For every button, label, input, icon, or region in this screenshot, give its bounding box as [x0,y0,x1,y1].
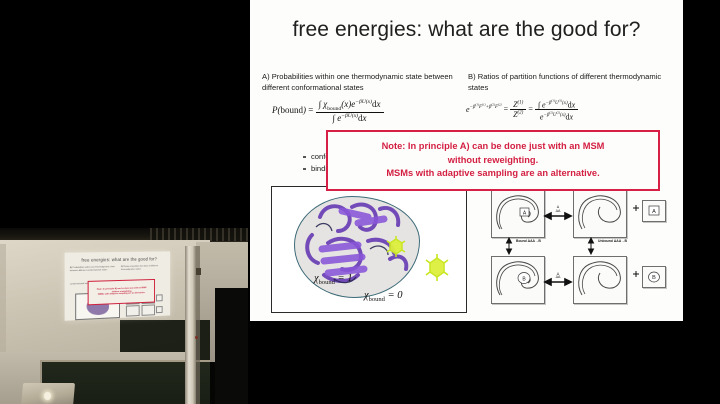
equation-b: e−β(1)F(1)+β(2)F(2) = Z(1) Z(2) = ∫ e−β(… [466,98,578,122]
receptor-shape [574,191,626,237]
projected-slide: free energies: what are the good for? A)… [65,251,171,320]
section-a-heading: A) Probabilities within one thermodynami… [262,72,458,94]
cycle-box-bound-b: B [491,256,545,304]
cycle-label-unbound: Unbound ΔAA→B [598,239,627,243]
cycle-box-bound-a: A [491,190,545,238]
equation-a-denominator: ∫ e−βU(x)dx [316,113,384,123]
equation-a: P(bound) = ∫ χbound(x)e−βU(x)dx ∫ e−βU(x… [272,99,384,123]
callout-line-2: without reweighting. [448,154,538,167]
projected-section-b: B) Ratios of partition functions of diff… [121,265,164,271]
free-ligand-icon [426,254,448,281]
screen-root: free energies: what are the good for? A)… [0,0,720,404]
svg-text:Δ: Δ [557,205,560,209]
svg-text:A: A [652,209,656,215]
red-indicator-light [195,336,198,339]
projected-section-a: A) Probabilities within one thermodynami… [70,266,115,272]
receptor-shape: B [492,257,544,303]
ligand-a-icon: A [643,201,665,221]
equation-a-numerator: ∫ χbound(x)e−βU(x)dx [316,99,384,113]
svg-text:Δ: Δ [557,272,560,276]
receptor-shape: A [492,191,544,237]
equals-sign: = [308,105,315,115]
equation-a-fraction: ∫ χbound(x)e−βU(x)dx ∫ e−βU(x)dx [316,99,384,123]
protein-binding-figure: χbound = 1 χbound = 0 [271,186,467,313]
projected-callout-line-3: MSMs with adaptive sampling are an alter… [98,292,145,297]
projected-cycle-box [156,294,163,301]
thermodynamic-cycle-figure: A A [487,186,673,310]
cycle-small-box-a: A [642,200,666,222]
dark-corner [215,288,248,404]
wall-socket [196,268,201,275]
projected-cycle-box [142,304,155,315]
slide-title: free energies: what are the good for? [250,18,683,42]
equation-b-numerator: ∫ e−β(1)U(1)(x)dx [535,98,578,110]
equation-a-lhs: P(bound) [272,105,306,115]
pillar [185,246,196,404]
apple-logo-icon [44,392,51,400]
projected-callout: Note: In principle A) can be done just w… [88,279,155,305]
svg-text:ΔA: ΔA [556,275,561,279]
svg-text:ΔA: ΔA [556,209,561,213]
equation-b-lhs: e−β(1)F(1)+β(2)F(2) [466,105,502,114]
projected-slide-title: free energies: what are the good for? [73,256,164,263]
cycle-small-box-b: B [642,266,666,288]
section-b-heading: B) Ratios of partition functions of diff… [468,72,674,94]
equation-b-partition-ratio: Z(1) Z(2) [510,100,526,119]
cycle-box-unbound-a [573,190,627,238]
callout-line-1: Note: In principle A) can be done just w… [382,140,605,153]
equation-b-fraction: ∫ e−β(1)U(1)(x)dx e−β(2)U(2)(x)dx [535,98,578,122]
presentation-slide: free energies: what are the good for? A)… [250,0,683,321]
callout-line-3: MSMs with adaptive sampling are an alter… [386,167,599,180]
cycle-box-unbound-b [573,256,627,304]
chi-bound-one-label: χbound = 1 [314,273,352,286]
ligand-b-icon: B [643,267,665,287]
equation-b-z1: Z(1) [510,100,526,110]
equation-b-z2: Z(2) [510,110,526,119]
projected-cycle-box [156,306,163,313]
red-callout-box: Note: In principle A) can be done just w… [326,130,660,191]
receptor-shape [574,257,626,303]
chi-bound-zero-label: χbound = 0 [364,290,402,303]
cycle-label-bound: Bound ΔAA→B [516,239,541,243]
projected-cycle-box [126,305,140,317]
equation-b-denominator: e−β(2)U(2)(x)dx [535,110,578,121]
svg-text:B: B [652,275,656,281]
webcam-room-view: free energies: what are the good for? A)… [0,228,248,404]
